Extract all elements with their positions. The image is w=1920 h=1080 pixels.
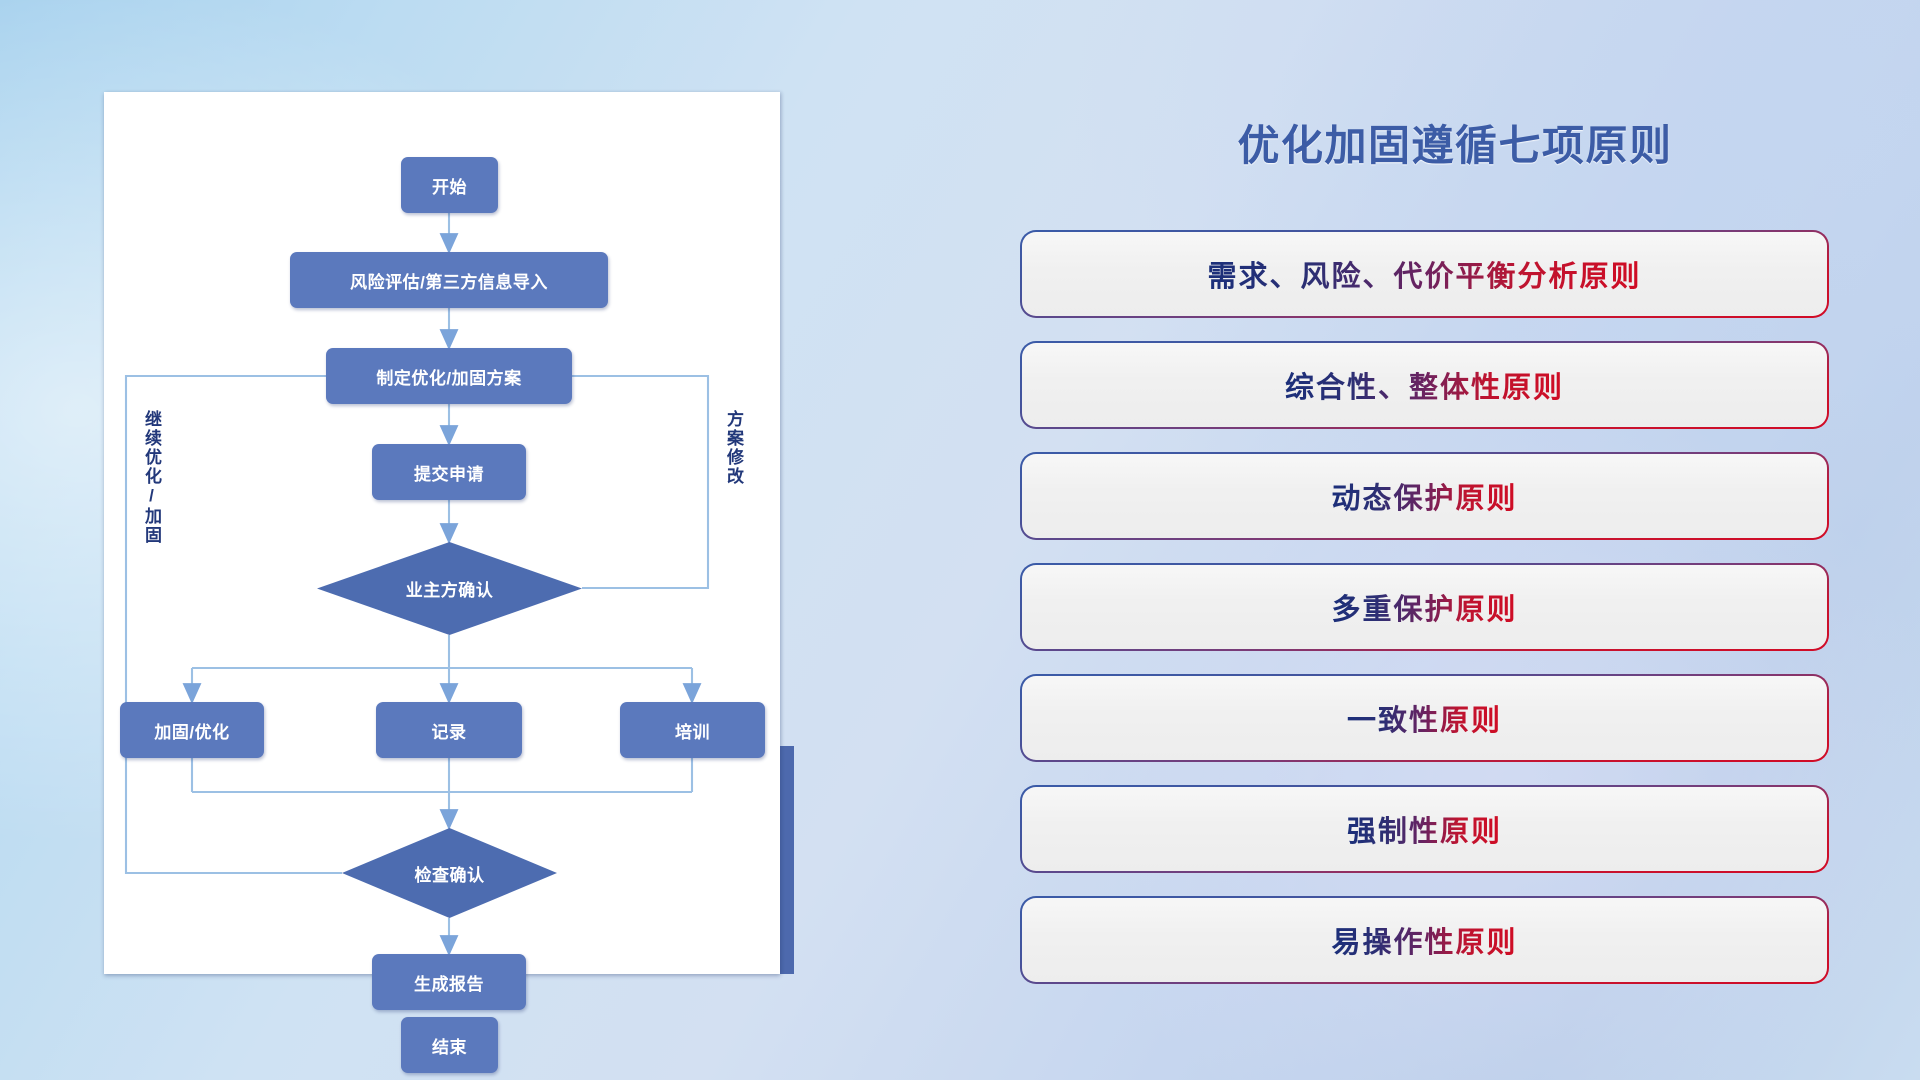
flow-node-end[interactable]: 结束 xyxy=(401,1017,498,1073)
principle-card-1[interactable]: 需求、风险、代价平衡分析原则 xyxy=(1022,232,1827,316)
flow-decision-inspection-confirm[interactable]: 检查确认 xyxy=(342,828,557,918)
flow-node-training[interactable]: 培训 xyxy=(620,702,765,758)
flow-edge-label-continue-optimize: 继续优化/加固 xyxy=(142,410,160,545)
principles-list: 需求、风险、代价平衡分析原则 综合性、整体性原则 动态保护原则 多重保护原则 一… xyxy=(1022,232,1827,1009)
principle-label: 一致性原则 xyxy=(1347,697,1502,739)
flow-node-risk-assessment[interactable]: 风险评估/第三方信息导入 xyxy=(290,252,608,308)
principles-panel: 优化加固遵循七项原则 需求、风险、代价平衡分析原则 综合性、整体性原则 动态保护… xyxy=(1022,0,1862,1080)
flow-node-record[interactable]: 记录 xyxy=(376,702,522,758)
principle-label: 易操作性原则 xyxy=(1331,919,1517,961)
flowchart-panel: 开始 风险评估/第三方信息导入 制定优化/加固方案 提交申请 业主方确认 加固/… xyxy=(104,92,794,992)
flow-node-generate-report[interactable]: 生成报告 xyxy=(372,954,526,1010)
principle-label: 动态保护原则 xyxy=(1331,475,1517,517)
principle-label: 多重保护原则 xyxy=(1331,586,1517,628)
principle-card-5[interactable]: 一致性原则 xyxy=(1022,676,1827,760)
flow-node-label: 提交申请 xyxy=(414,460,484,485)
flow-node-label: 加固/优化 xyxy=(154,718,229,743)
flow-node-label: 业主方确认 xyxy=(406,576,494,601)
flow-node-make-plan[interactable]: 制定优化/加固方案 xyxy=(326,348,572,404)
principle-card-6[interactable]: 强制性原则 xyxy=(1022,787,1827,871)
principle-label: 综合性、整体性原则 xyxy=(1285,364,1564,406)
flow-node-reinforce-optimize[interactable]: 加固/优化 xyxy=(120,702,264,758)
flow-node-label: 风险评估/第三方信息导入 xyxy=(350,268,548,293)
flow-node-label: 记录 xyxy=(432,718,467,743)
principle-label: 需求、风险、代价平衡分析原则 xyxy=(1207,253,1641,295)
flow-node-label: 制定优化/加固方案 xyxy=(376,364,521,389)
flow-node-label: 生成报告 xyxy=(414,970,484,995)
flowchart-card: 开始 风险评估/第三方信息导入 制定优化/加固方案 提交申请 业主方确认 加固/… xyxy=(104,92,780,974)
flow-node-label: 结束 xyxy=(432,1033,467,1058)
flow-node-label: 培训 xyxy=(675,718,710,743)
flow-node-label: 检查确认 xyxy=(415,861,485,886)
principle-card-2[interactable]: 综合性、整体性原则 xyxy=(1022,343,1827,427)
flow-node-submit-application[interactable]: 提交申请 xyxy=(372,444,526,500)
page-title: 优化加固遵循七项原则 xyxy=(1155,112,1755,173)
flow-edge-label-plan-revision: 方案修改 xyxy=(724,410,742,486)
flow-node-label: 开始 xyxy=(432,173,467,198)
flow-decision-owner-confirm[interactable]: 业主方确认 xyxy=(317,542,582,635)
principle-card-3[interactable]: 动态保护原则 xyxy=(1022,454,1827,538)
principle-card-4[interactable]: 多重保护原则 xyxy=(1022,565,1827,649)
flow-node-start[interactable]: 开始 xyxy=(401,157,498,213)
principle-card-7[interactable]: 易操作性原则 xyxy=(1022,898,1827,982)
principle-label: 强制性原则 xyxy=(1347,808,1502,850)
